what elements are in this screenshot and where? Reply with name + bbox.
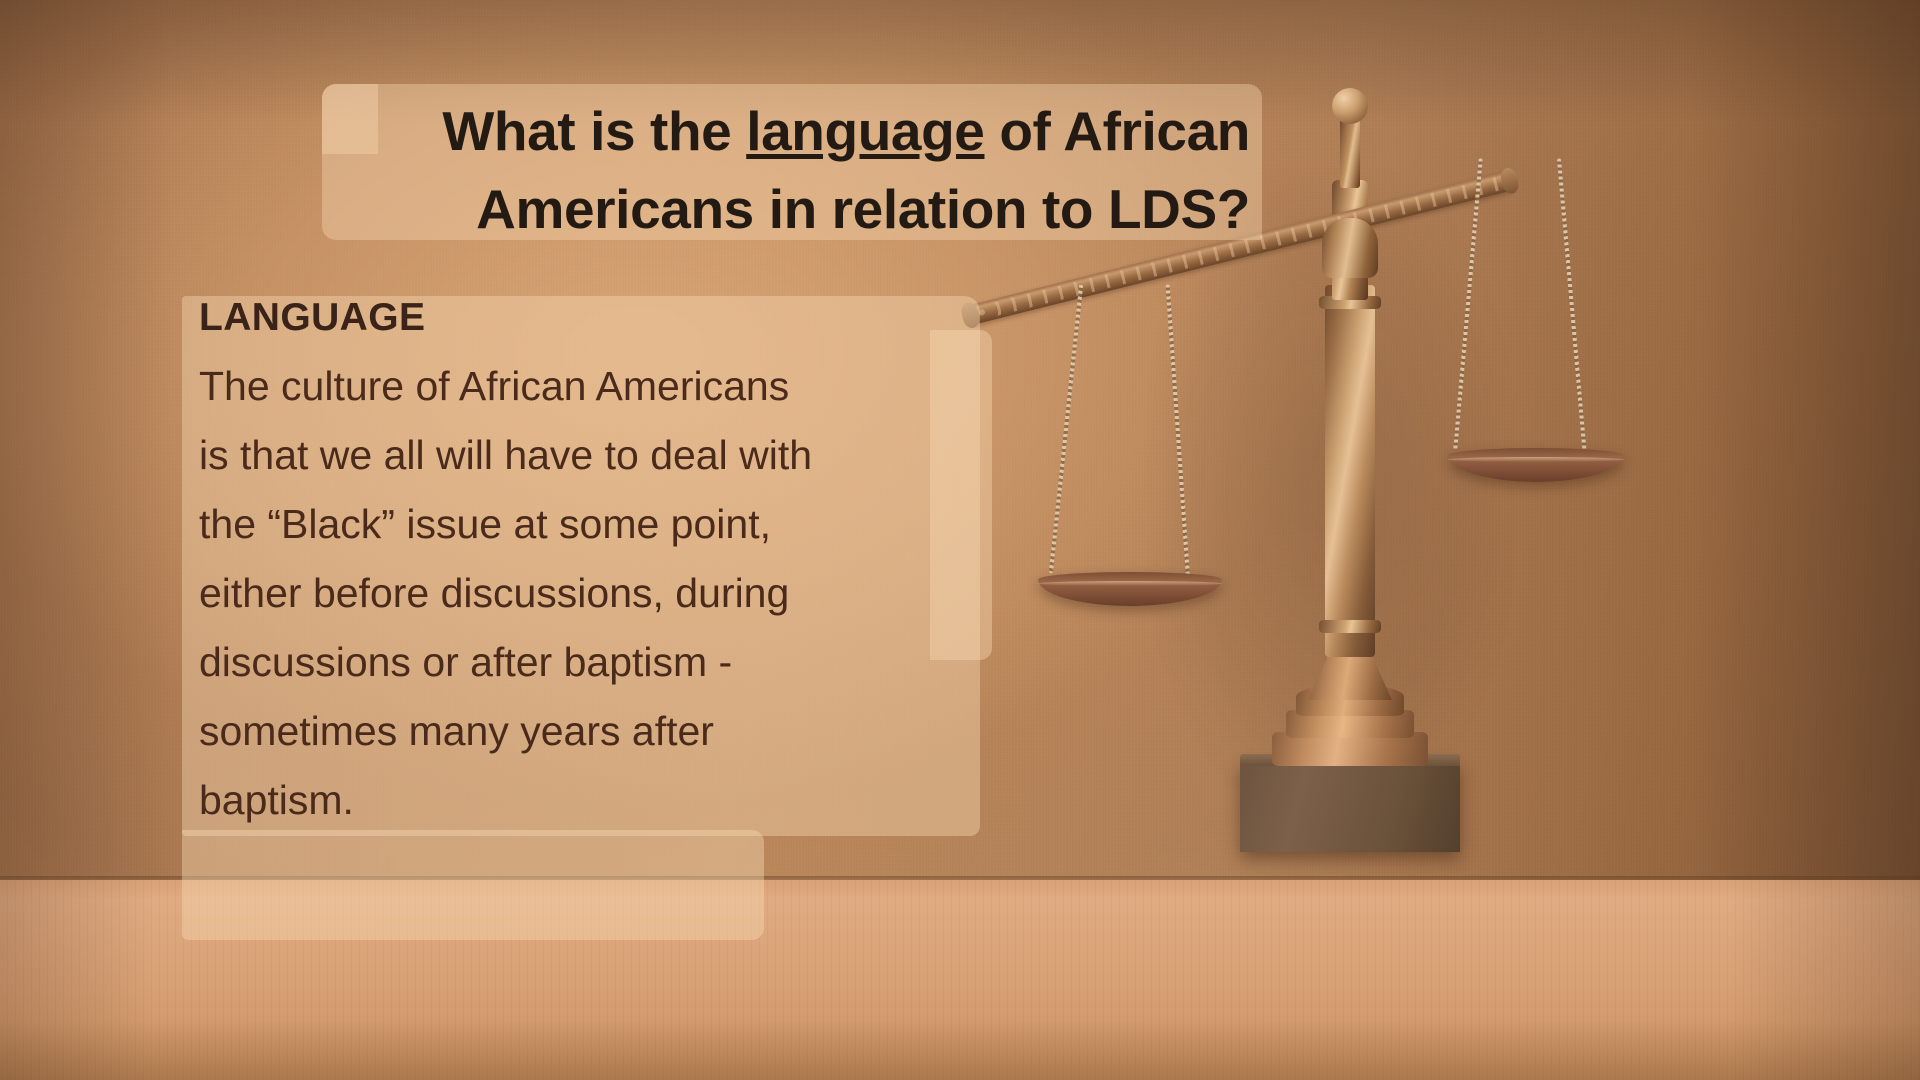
slide-title: What is the language of AfricanAmericans… [340, 92, 1250, 248]
scale-finial-stem [1340, 118, 1360, 188]
body-paragraph: The culture of African Americans is that… [199, 352, 1019, 835]
chain-right-b [1557, 158, 1587, 457]
title-emphasis-word: language [746, 100, 984, 162]
pan-right-lip [1448, 457, 1624, 462]
scale-plinth [1240, 760, 1460, 852]
scale-beam-cap-right [1499, 166, 1521, 195]
title-line2: Americans in relation to LDS? [476, 178, 1250, 240]
section-kicker: LANGUAGE [199, 296, 425, 340]
pan-left-lip [1038, 581, 1222, 586]
title-line1-post: of African [984, 100, 1250, 162]
scale-pivot [1322, 218, 1378, 278]
body-highlight-panel-lower [182, 830, 764, 940]
scale-column-ring-lower [1319, 620, 1381, 633]
scale-column [1325, 285, 1375, 657]
title-line1-pre: What is the [442, 100, 746, 162]
slide-canvas: What is the language of AfricanAmericans… [0, 0, 1920, 1080]
scale-finial-ball [1332, 88, 1368, 124]
